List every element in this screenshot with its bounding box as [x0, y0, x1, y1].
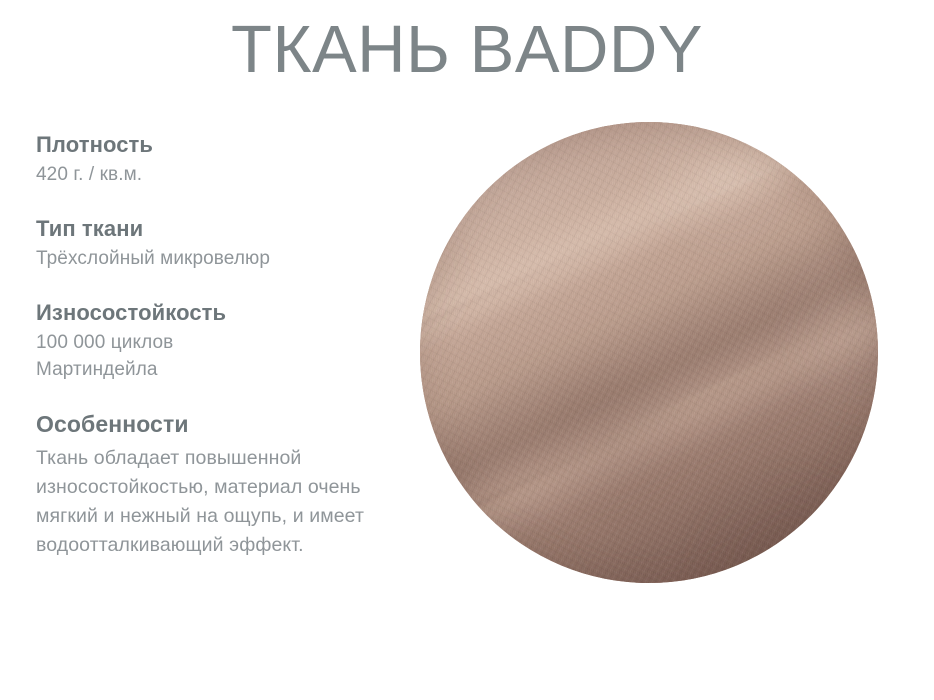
spec-label-features: Особенности: [36, 409, 396, 440]
fabric-spec-slide: ТКАНЬ BADDY Плотность 420 г. / кв.м. Тип…: [0, 0, 934, 700]
spec-item-density: Плотность 420 г. / кв.м.: [36, 130, 396, 188]
spec-item-durability: Износостойкость 100 000 циклов Мартиндей…: [36, 298, 396, 383]
fabric-photo-art: [420, 122, 878, 583]
spec-value-durability: 100 000 циклов Мартиндейла: [36, 329, 396, 383]
spec-value-density: 420 г. / кв.м.: [36, 161, 396, 188]
fabric-photo: [420, 122, 878, 583]
spec-label-density: Плотность: [36, 130, 396, 159]
spec-item-fabric-type: Тип ткани Трёхслойный микровелюр: [36, 214, 396, 272]
page-title: ТКАНЬ BADDY: [0, 8, 934, 92]
spec-value-fabric-type: Трёхслойный микровелюр: [36, 245, 396, 272]
spec-list: Плотность 420 г. / кв.м. Тип ткани Трёхс…: [36, 130, 396, 560]
spec-value-features: Ткань обладает повышенной износостойкост…: [36, 444, 381, 560]
spec-label-durability: Износостойкость: [36, 298, 396, 327]
fabric-nap-fine-texture: [420, 122, 878, 583]
spec-item-features: Особенности Ткань обладает повышенной из…: [36, 409, 396, 560]
spec-label-fabric-type: Тип ткани: [36, 214, 396, 243]
